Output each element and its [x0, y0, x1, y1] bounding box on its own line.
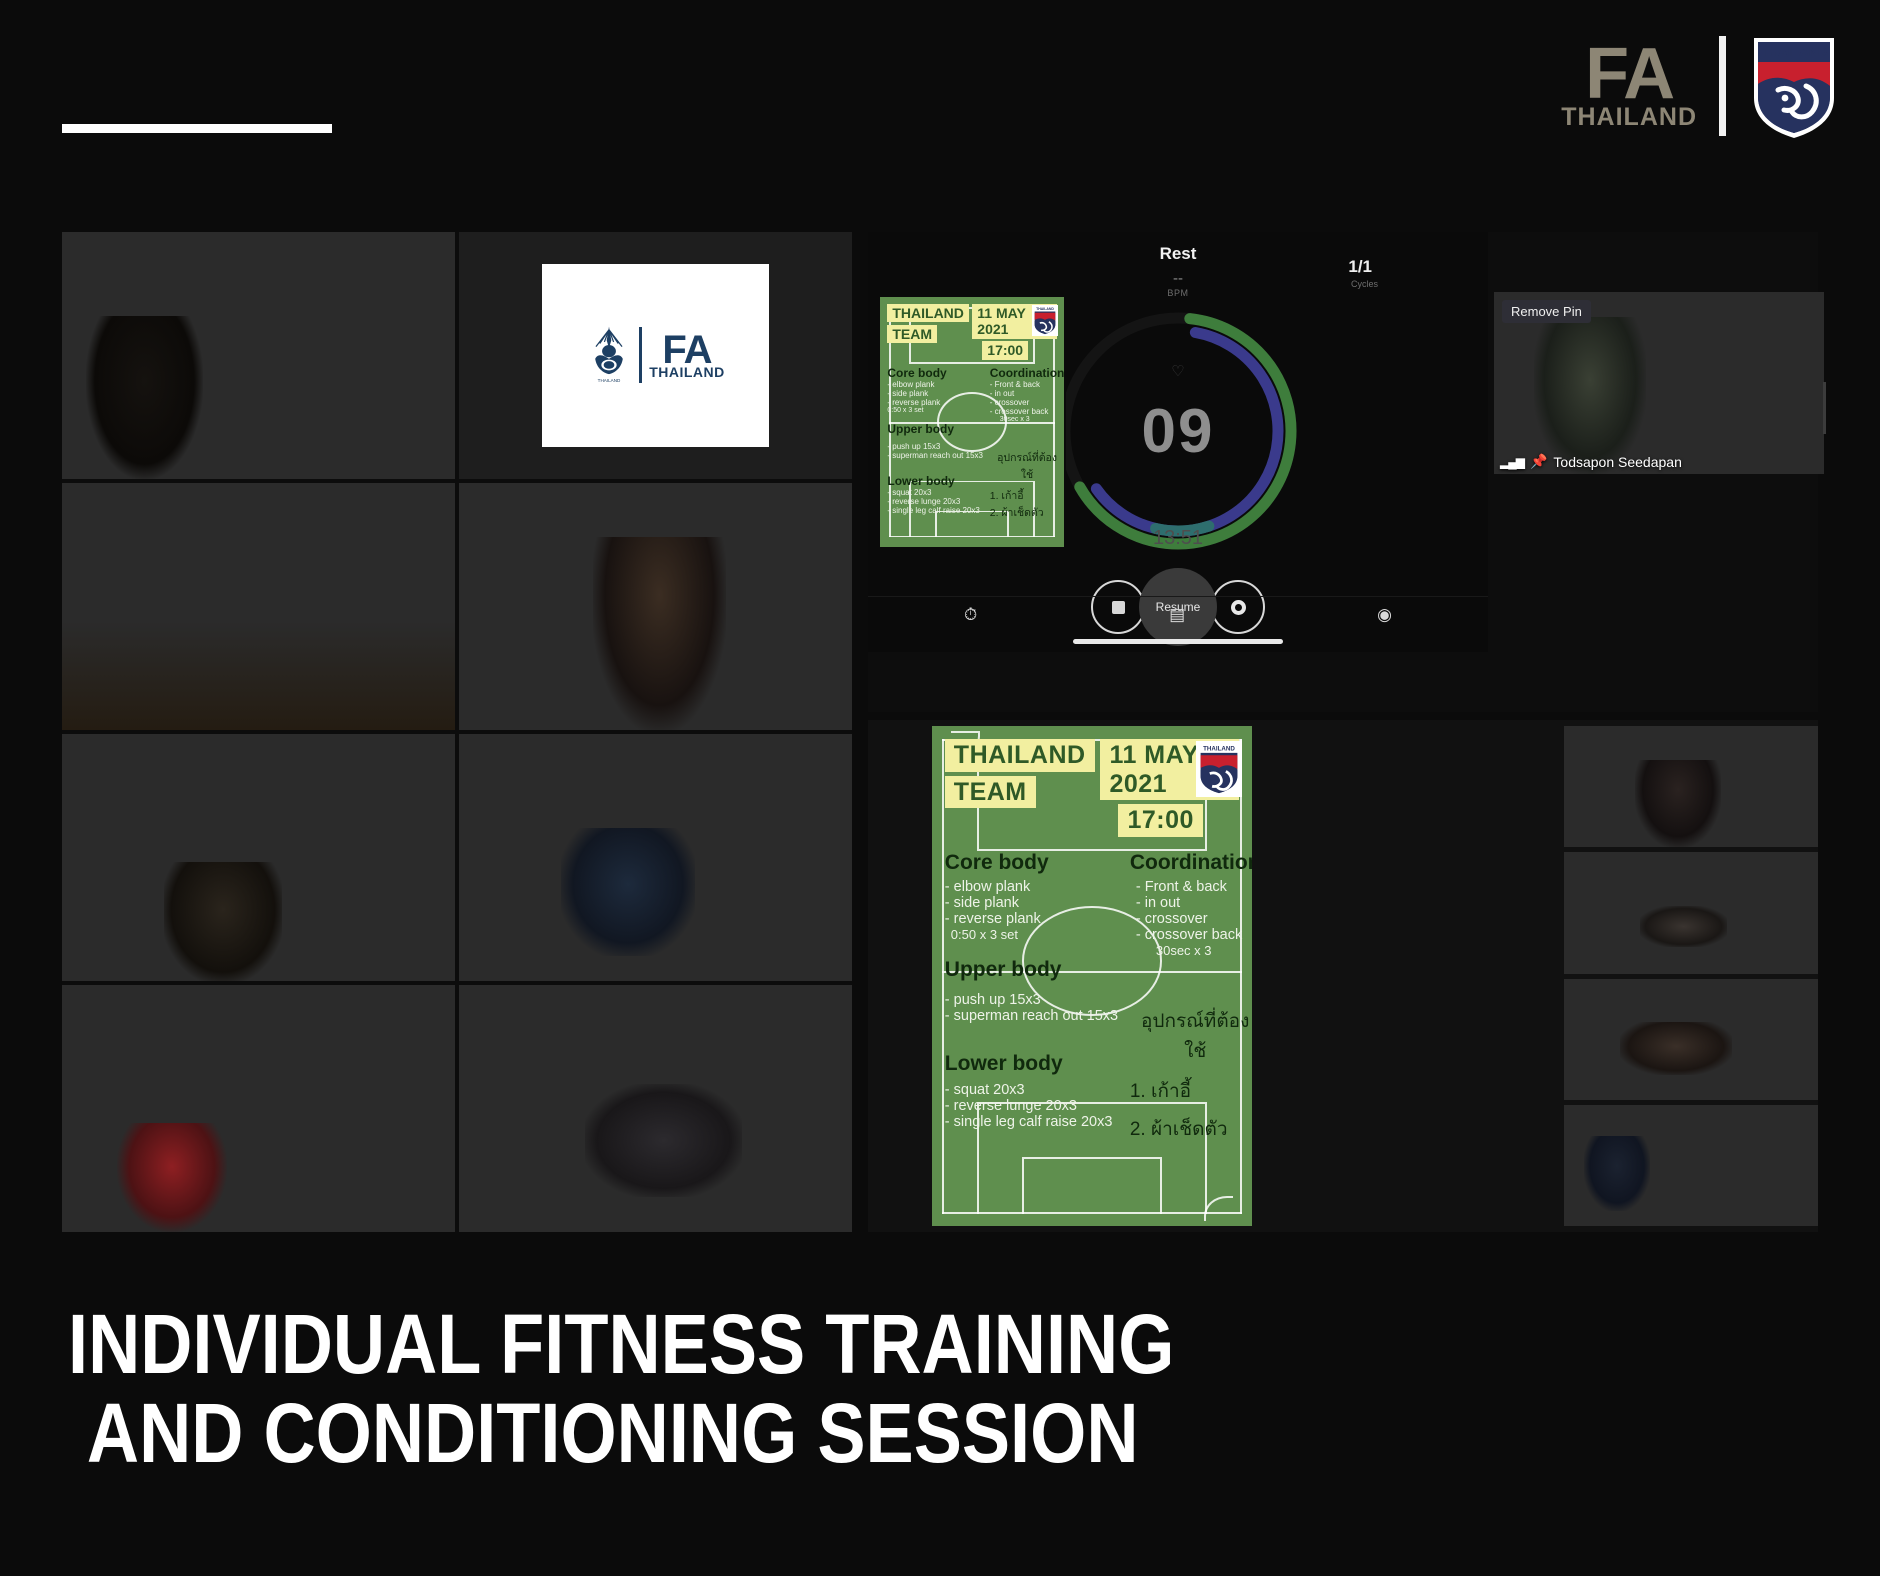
section-heading-upper-body: Upper body: [887, 422, 983, 436]
video-tile-participant-wood-floor-pushup[interactable]: [459, 985, 852, 1232]
column-right: Coordination - Front & back - in out - c…: [990, 366, 1064, 521]
video-tile-participant-skylight-corridor[interactable]: [62, 734, 455, 981]
thailand-crest-icon: THAILAND: [1748, 32, 1840, 140]
list-item: - reverse plank: [945, 911, 1118, 927]
list-item: - reverse plank: [887, 398, 983, 407]
gallery-scrollbar[interactable]: [1823, 382, 1826, 434]
fa-logo-subtitle: THAILAND: [649, 367, 725, 379]
timer-header: Rest -- BPM 1/1 Cycles: [868, 232, 1488, 302]
equipment-item: 1. เก้าอี้: [990, 487, 1064, 504]
section-items-core-body: - elbow plank - side plank - reverse pla…: [887, 380, 983, 414]
card-header: THAILAND TEAM 11 MAY 2021 17:00: [945, 739, 1239, 837]
filmstrip-thumb-teal-tank-pushup[interactable]: [1564, 1105, 1818, 1226]
section-heading-lower-body: Lower body: [945, 1052, 1118, 1076]
equipment-item: 2. ผ้าเช็ดตัว: [1130, 1114, 1252, 1144]
meeting-stage: THAILAND FA THAILAND: [0, 232, 1880, 1242]
section-heading-upper-body: Upper body: [945, 958, 1118, 982]
section-items-coordination: - Front & back - in out - crossover - cr…: [1130, 879, 1252, 958]
section-items-core-body: - elbow plank - side plank - reverse pla…: [945, 879, 1118, 942]
list-item: - Front & back: [990, 380, 1064, 389]
list-item: - single leg calf raise 20x3: [887, 506, 983, 515]
team-chip: TEAM: [887, 325, 937, 343]
list-item: - side plank: [887, 389, 983, 398]
video-feed: [459, 985, 852, 1232]
section-items-coordination: - Front & back - in out - crossover - cr…: [990, 380, 1064, 423]
fa-thailand-brand-lockup: FA THAILAND THAILAND: [1561, 30, 1840, 142]
list-item: - side plank: [945, 895, 1118, 911]
team-chip: TEAM: [945, 776, 1036, 809]
brand-divider: [1719, 36, 1726, 136]
card-crest-icon: THAILAND: [1032, 305, 1058, 336]
list-item: - crossover back: [990, 407, 1064, 416]
list-item: - elbow plank: [945, 879, 1118, 895]
workout-plan-card-large[interactable]: THAILAND TEAM 11 MAY 2021 17:00: [932, 726, 1252, 1226]
fa-wordmark: FA THAILAND: [1561, 45, 1697, 128]
list-item: - reverse lunge 20x3: [945, 1098, 1118, 1114]
timer-cycles-value: 1/1: [1348, 257, 1372, 277]
fa-subtitle: THAILAND: [1561, 107, 1697, 128]
list-item: - single leg calf raise 20x3: [945, 1114, 1118, 1130]
time-chip: 17:00: [982, 341, 1028, 359]
video-tile-participant-kitchen-pushup[interactable]: [459, 483, 852, 730]
video-tile-participant-lamp-hallway[interactable]: [62, 985, 455, 1232]
crest-label: THAILAND: [1761, 44, 1827, 59]
list-item: - reverse lunge 20x3: [887, 497, 983, 506]
timer-bpm-value: --: [1173, 270, 1183, 287]
team-country-chip: THAILAND: [945, 739, 1095, 772]
equipment-heading-line1: อุปกรณ์ที่ต้อง: [990, 449, 1064, 466]
video-feed: [459, 483, 852, 730]
section-items-upper-body: - push up 15x3 - superman reach out 15x3: [887, 442, 983, 460]
pin-icon: 📌: [1530, 453, 1547, 470]
home-indicator: [1073, 639, 1283, 644]
timer-bpm-label: BPM: [1167, 288, 1188, 298]
title-line-1: INDIVIDUAL FITNESS TRAINING: [68, 1297, 1174, 1391]
column-right: Coordination - Front & back - in out - c…: [1130, 851, 1252, 1144]
section-heading-coordination: Coordination: [1130, 851, 1252, 875]
column-left: Core body - elbow plank - side plank - r…: [887, 366, 983, 521]
video-feed: [62, 232, 455, 479]
timer-progress-ring: ♡ 09 13:51: [1053, 306, 1303, 556]
section-heading-core-body: Core body: [945, 851, 1118, 875]
accent-bar: [62, 124, 332, 133]
shared-screen-timer-panel: Rest -- BPM 1/1 Cycles ♡: [868, 232, 1818, 712]
card-content: THAILAND TEAM 11 MAY 2021 17:00: [880, 297, 1064, 547]
timer-tab-icon[interactable]: ⏱: [964, 605, 977, 625]
section-note: 30sec x 3: [990, 416, 1064, 423]
video-tile-participant-window-room[interactable]: [62, 232, 455, 479]
section-items-lower-body: - squat 20x3 - reverse lunge 20x3 - sing…: [945, 1082, 1118, 1130]
timer-elapsed-value: 13:51: [1153, 527, 1203, 550]
video-tile-participant-living-room-tv[interactable]: [459, 734, 852, 981]
shared-screen-plan-panel: THAILAND TEAM 11 MAY 2021 17:00: [868, 720, 1818, 1232]
svg-text:THAILAND: THAILAND: [598, 378, 621, 383]
list-item: - crossover back: [1136, 927, 1252, 943]
card-header: THAILAND TEAM 11 MAY 2021 17:00: [887, 304, 1056, 360]
video-feed: [62, 483, 455, 730]
timer-cycles-label: Cycles: [1351, 279, 1378, 289]
remove-pin-button[interactable]: Remove Pin: [1502, 300, 1591, 323]
card-columns: Core body - elbow plank - side plank - r…: [887, 366, 1056, 521]
equipment-heading-line1: อุปกรณ์ที่ต้อง: [1130, 1006, 1252, 1036]
poster-canvas: FA THAILAND THAILAND: [0, 0, 1880, 1576]
video-tile-fa-logo[interactable]: THAILAND FA THAILAND: [459, 232, 852, 479]
pinned-participant-tile[interactable]: Remove Pin ▂▄▆ 📌 Todsapon Seedapan: [1494, 292, 1824, 474]
participant-filmstrip: [1564, 726, 1818, 1226]
list-item: - crossover: [1136, 911, 1252, 927]
list-item: - in out: [1136, 895, 1252, 911]
title-line-2: AND CONDITIONING SESSION: [68, 1389, 1272, 1478]
page-title: INDIVIDUAL FITNESS TRAINING AND CONDITIO…: [68, 1300, 1272, 1478]
timer-countdown-value: 09: [1053, 306, 1303, 556]
card-content: THAILAND TEAM 11 MAY 2021 17:00: [932, 726, 1252, 1226]
equipment-heading-line2: ใช้: [1130, 1036, 1252, 1066]
list-item: - crossover: [990, 398, 1064, 407]
participant-name-label: ▂▄▆ 📌 Todsapon Seedapan: [1500, 453, 1682, 470]
right-column: Rest -- BPM 1/1 Cycles ♡: [868, 232, 1818, 1232]
section-heading-coordination: Coordination: [990, 366, 1064, 380]
list-item: - elbow plank: [887, 380, 983, 389]
calendar-tab-icon[interactable]: ▤: [1169, 605, 1185, 625]
fa-logo-letters: FA: [662, 333, 711, 367]
equipment-heading-line2: ใช้: [990, 466, 1064, 483]
signal-icon: ▂▄▆: [1500, 455, 1524, 469]
filmstrip-thumb-table-plank[interactable]: [1564, 852, 1818, 973]
svg-text:THAILAND: THAILAND: [1037, 307, 1055, 311]
list-item: - squat 20x3: [945, 1082, 1118, 1098]
list-item: - squat 20x3: [887, 488, 983, 497]
filmstrip-thumb-washer-room[interactable]: [1564, 726, 1818, 847]
participant-name-text: Todsapon Seedapan: [1553, 454, 1681, 470]
garuda-emblem-icon: THAILAND: [586, 325, 632, 385]
list-item: - Front & back: [1136, 879, 1252, 895]
video-feed: [459, 734, 852, 981]
card-columns: Core body - elbow plank - side plank - r…: [945, 851, 1239, 1144]
filmstrip-thumb-white-tank-pushup[interactable]: [1564, 979, 1818, 1100]
section-note: 30sec x 3: [1136, 943, 1252, 958]
fa-letters: FA: [1585, 45, 1673, 104]
section-heading-lower-body: Lower body: [887, 474, 983, 488]
list-item: - push up 15x3: [887, 442, 983, 451]
time-chip: 17:00: [1118, 804, 1202, 837]
list-item: - in out: [990, 389, 1064, 398]
list-item: - superman reach out 15x3: [887, 451, 983, 460]
timer-phase-label: Rest: [1160, 244, 1197, 264]
svg-text:THAILAND: THAILAND: [1204, 746, 1236, 753]
workout-plan-card-small[interactable]: THAILAND TEAM 11 MAY 2021 17:00: [880, 297, 1064, 547]
list-item: - push up 15x3: [945, 992, 1118, 1008]
section-note: 0:50 x 3 set: [887, 407, 983, 414]
profile-tab-icon[interactable]: ◉: [1377, 605, 1392, 625]
equipment-item: 2. ผ้าเช็ดตัว: [990, 504, 1064, 521]
list-item: - superman reach out 15x3: [945, 1008, 1118, 1024]
fa-logo-card: THAILAND FA THAILAND: [542, 264, 770, 447]
card-crest-icon: THAILAND: [1196, 741, 1242, 797]
video-tile-participant-sun-flare[interactable]: [62, 483, 455, 730]
equipment-item: 1. เก้าอี้: [1130, 1076, 1252, 1106]
video-feed: [62, 985, 455, 1232]
timer-bottom-nav: ⏱ ▤ ◉: [868, 596, 1488, 652]
team-country-chip: THAILAND: [887, 304, 969, 322]
video-feed: [62, 734, 455, 981]
section-items-lower-body: - squat 20x3 - reverse lunge 20x3 - sing…: [887, 488, 983, 515]
section-items-upper-body: - push up 15x3 - superman reach out 15x3: [945, 992, 1118, 1024]
video-gallery-grid: THAILAND FA THAILAND: [62, 232, 852, 1232]
section-note: 0:50 x 3 set: [945, 927, 1118, 942]
section-heading-core-body: Core body: [887, 366, 983, 380]
column-left: Core body - elbow plank - side plank - r…: [945, 851, 1118, 1144]
